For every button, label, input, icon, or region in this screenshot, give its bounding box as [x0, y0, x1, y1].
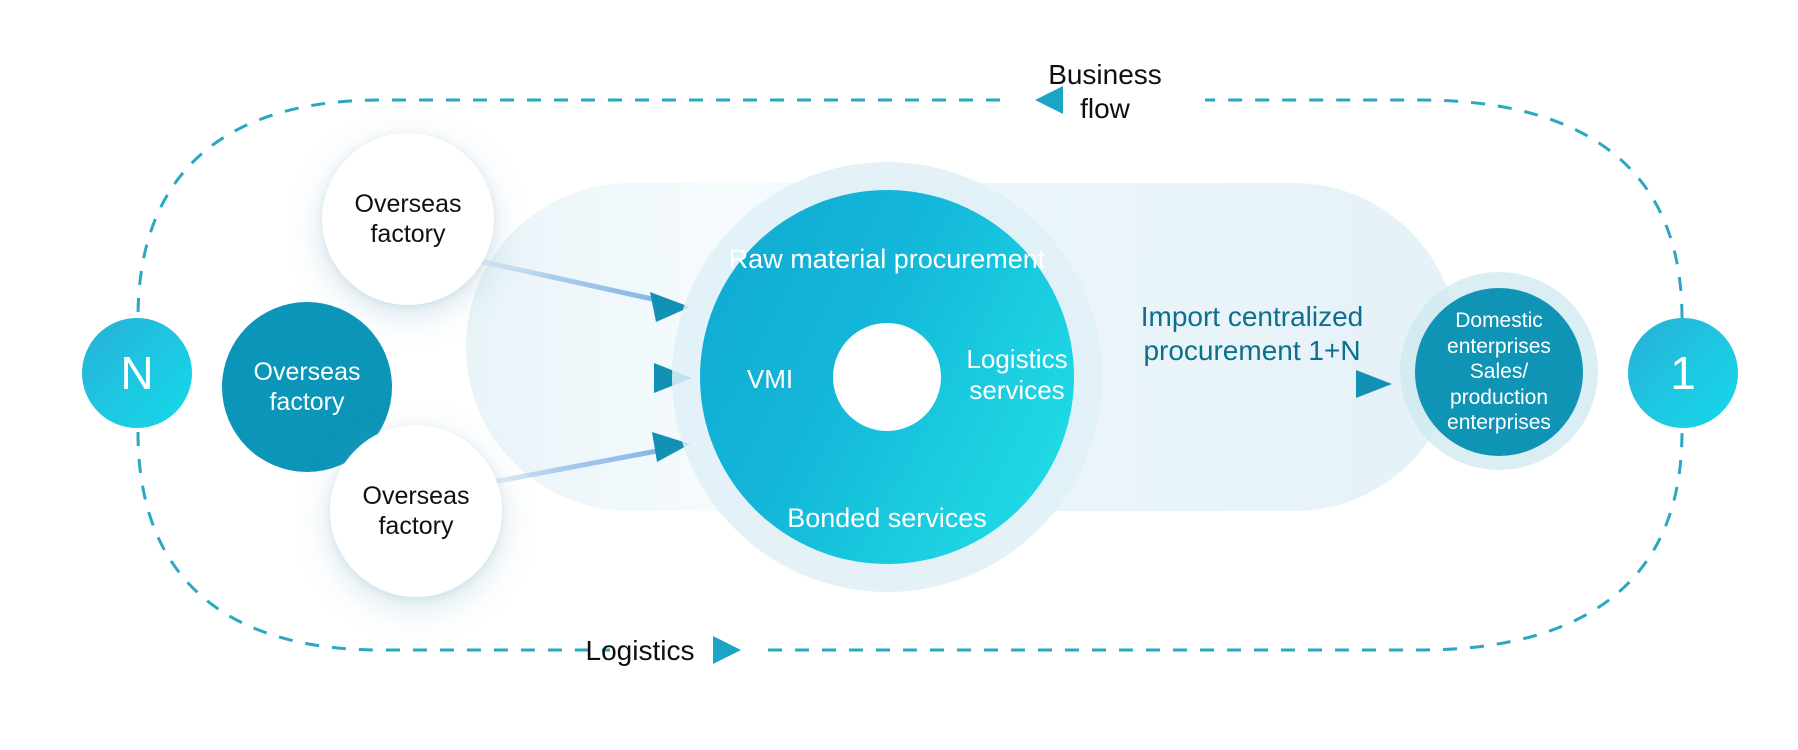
- overseas-factory-bottom-line2: factory: [378, 512, 453, 540]
- business-flow-caption-line1: Business: [1048, 59, 1162, 90]
- overseas-factory-bottom-line1: Overseas: [363, 482, 470, 510]
- import-flow-caption-line2: procurement 1+N: [1143, 335, 1360, 366]
- overseas-factory-middle-line1: Overseas: [254, 358, 361, 386]
- overseas-factory-middle-label: Overseas factory: [254, 357, 361, 418]
- hub-service-vmi: VMI: [718, 364, 822, 395]
- import-flow-caption: Import centralized procurement 1+N: [1122, 300, 1382, 367]
- overseas-factory-bottom-label: Overseas factory: [363, 481, 470, 542]
- overseas-factory-top-line1: Overseas: [355, 190, 462, 218]
- domestic-line5: enterprises: [1447, 411, 1551, 434]
- hub-service-raw-material: Raw material procurement: [700, 243, 1074, 275]
- overseas-factory-bottom[interactable]: Overseas factory: [330, 425, 502, 597]
- domestic-enterprises-label: Domestic enterprises Sales/ production e…: [1447, 308, 1551, 436]
- diagram-canvas: N 1 Overseas factory Overseas factory Ov…: [0, 0, 1798, 750]
- overseas-factory-top-line2: factory: [370, 220, 445, 248]
- business-flow-caption: Business flow: [1010, 58, 1200, 125]
- hub-logo-badge: [833, 323, 941, 431]
- hub-service-logistics-line1: Logistics: [966, 344, 1067, 374]
- endpoint-one-label: 1: [1670, 345, 1696, 401]
- domestic-line1: Domestic: [1455, 309, 1543, 332]
- domestic-line2: enterprises: [1447, 335, 1551, 358]
- endpoint-n-circle[interactable]: N: [82, 318, 192, 428]
- hub-service-bonded: Bonded services: [700, 502, 1074, 534]
- domestic-line3: Sales/: [1470, 360, 1528, 383]
- business-flow-caption-line2: flow: [1080, 93, 1130, 124]
- domestic-enterprises-node[interactable]: Domestic enterprises Sales/ production e…: [1415, 288, 1583, 456]
- overseas-factory-top-label: Overseas factory: [355, 189, 462, 250]
- logistics-caption: Logistics: [540, 634, 740, 668]
- overseas-factory-top[interactable]: Overseas factory: [322, 133, 494, 305]
- domestic-line4: production: [1450, 386, 1548, 409]
- import-flow-caption-line1: Import centralized: [1141, 301, 1364, 332]
- endpoint-n-label: N: [120, 345, 153, 401]
- hub-service-logistics: Logistics services: [952, 344, 1082, 406]
- overseas-factory-middle-line2: factory: [269, 388, 344, 416]
- hub-service-logistics-line2: services: [969, 375, 1064, 405]
- endpoint-one-circle[interactable]: 1: [1628, 318, 1738, 428]
